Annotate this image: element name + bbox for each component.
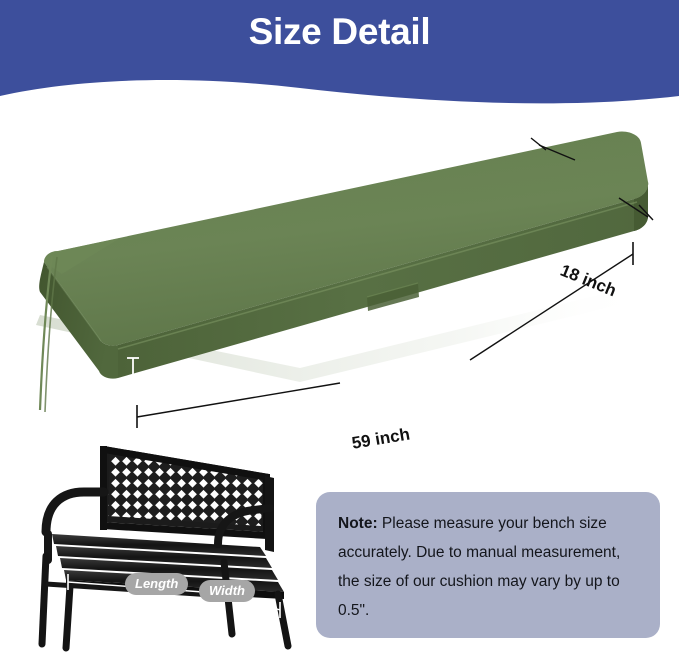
- note-text: Note: Please measure your bench size acc…: [338, 509, 638, 625]
- bench-length-pill: Length: [125, 573, 188, 595]
- bench-illustration: [22, 434, 312, 654]
- bench-drawing: [22, 434, 312, 654]
- note-label: Note:: [338, 515, 378, 532]
- note-callout: Note: Please measure your bench size acc…: [316, 492, 660, 638]
- header-banner: Size Detail: [0, 0, 679, 120]
- cushion-illustration: 59 inch 18 inch 3 inch: [0, 110, 679, 440]
- bench-width-pill: Width: [199, 580, 255, 602]
- note-body: Please measure your bench size accuratel…: [338, 515, 620, 619]
- page-title: Size Detail: [0, 11, 679, 53]
- size-detail-infographic: Size Detail: [0, 0, 679, 657]
